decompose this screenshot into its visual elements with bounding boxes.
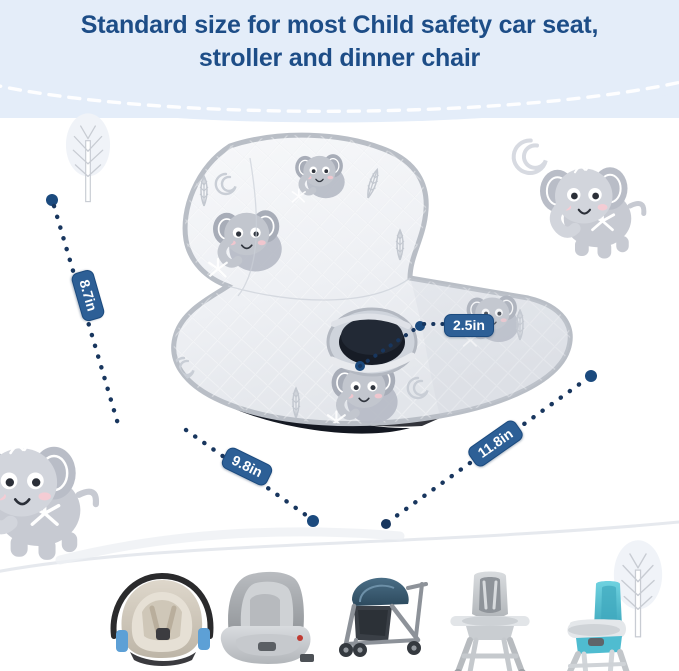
dimension-line-strap-opening (355, 321, 444, 371)
dimension-overlay (0, 0, 679, 671)
dimension-badge-strap-opening: 2.5in (444, 314, 494, 337)
infographic-canvas: Standard size for most Child safety car … (0, 0, 679, 671)
